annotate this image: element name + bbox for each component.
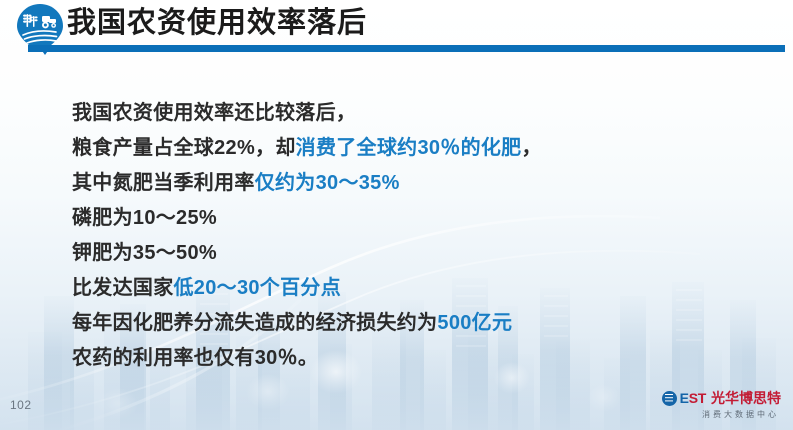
body-text-line: 钾肥为35～50% (72, 236, 712, 271)
body-text-segment: 比发达国家 (72, 277, 174, 299)
body-text-line: 农药的利用率也仅有30％。 (72, 341, 712, 376)
body-text-segment: 我国农资使用效率还比较落后， (72, 102, 356, 124)
body-text-line: 我国农资使用效率还比较落后， (72, 96, 712, 131)
page-number: 102 (10, 398, 32, 412)
body-text-line: 每年因化肥养分流失造成的经济损失约为500亿元 (72, 306, 712, 341)
highlighted-text: 仅约为30～35% (255, 172, 400, 194)
body-text-segment: 其中氮肥当季利用率 (72, 172, 255, 194)
body-text-segment: 粮食产量占全球22%，却 (72, 137, 296, 159)
title-underline-bar (28, 45, 785, 52)
company-logo-best-st: ST (689, 390, 706, 406)
body-text-segment: 农药的利用率也仅有30％。 (72, 347, 318, 369)
body-text-segment: 每年因化肥养分流失造成的经济损失约为 (72, 312, 437, 334)
body-text-line: 磷肥为10～25% (72, 201, 712, 236)
body-text-segment: ， (522, 137, 542, 159)
highlighted-text: 消费了全球约30％的化肥 (296, 137, 522, 159)
company-tagline: 消费大数据中心 (702, 409, 779, 420)
body-text-segment: 磷肥为10～25% (72, 207, 217, 229)
best-circle-mark-icon (662, 391, 677, 406)
slide-body-text: 我国农资使用效率还比较落后，粮食产量占全球22%，却消费了全球约30％的化肥，其… (72, 96, 712, 376)
page-title: 我国农资使用效率落后 (67, 3, 367, 43)
company-name-cn: 光华博思特 (711, 388, 781, 408)
body-text-segment: 钾肥为35～50% (72, 242, 217, 264)
highlighted-text: 低20～30个百分点 (174, 277, 342, 299)
company-logo-row: EST 光华博思特 (662, 388, 781, 408)
highlighted-text: 500亿元 (437, 312, 512, 334)
slide-canvas: 我国农资使用效率落后 我国农资使用效率还比较落后，粮食产量占全球22%，却消费了… (0, 0, 793, 430)
company-logo: EST 光华博思特 消费大数据中心 (662, 388, 781, 420)
body-text-line: 其中氮肥当季利用率仅约为30～35% (72, 166, 712, 201)
slide-header: 我国农资使用效率落后 (0, 0, 793, 58)
body-text-line: 比发达国家低20～30个百分点 (72, 271, 712, 306)
company-logo-best-e: E (680, 390, 689, 406)
body-text-line: 粮食产量占全球22%，却消费了全球约30％的化肥， (72, 131, 712, 166)
company-logo-best: EST (680, 390, 706, 406)
